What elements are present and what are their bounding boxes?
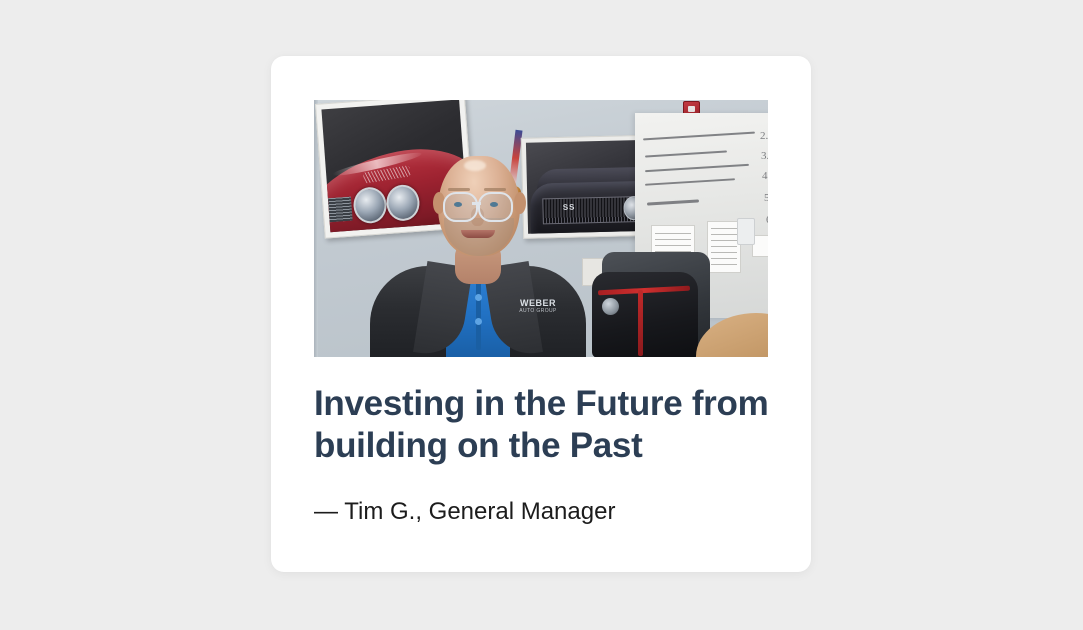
backpack-strap-vertical bbox=[638, 290, 643, 356]
head-highlight bbox=[464, 160, 486, 171]
person-figure: WEBER AUTO GROUP bbox=[368, 146, 588, 357]
testimonial-title: Investing in the Future from building on… bbox=[314, 383, 774, 467]
whiteboard-number: 5. bbox=[764, 193, 768, 204]
whiteboard-number: 6. bbox=[766, 215, 768, 226]
testimonial-photo: SS 2. 3. 4. 5. bbox=[314, 100, 768, 357]
glasses-bridge bbox=[472, 202, 481, 205]
page-root: SS 2. 3. 4. 5. bbox=[0, 0, 1083, 630]
glasses-lens-left bbox=[443, 192, 478, 222]
whiteboard-scribble bbox=[645, 150, 727, 157]
jacket-logo: WEBER AUTO GROUP bbox=[516, 298, 560, 316]
jacket-logo-subtext: AUTO GROUP bbox=[516, 308, 560, 315]
whiteboard-scribble bbox=[645, 164, 749, 172]
backpack-buckle bbox=[602, 298, 619, 315]
whiteboard-scribble bbox=[647, 199, 699, 205]
polo-placket bbox=[476, 274, 481, 350]
polo-button bbox=[475, 294, 482, 301]
glasses-lens-right bbox=[478, 192, 513, 222]
whiteboard-number: 4. bbox=[762, 171, 768, 182]
person-ear-right bbox=[514, 192, 526, 214]
backpack-strap-horizontal bbox=[598, 286, 690, 296]
whiteboard-paper bbox=[707, 221, 741, 273]
whiteboard-number: 2. bbox=[760, 131, 768, 142]
person-smile bbox=[461, 230, 495, 238]
polo-button bbox=[475, 318, 482, 325]
jacket-logo-text: WEBER bbox=[520, 298, 556, 308]
person-eyebrow-right bbox=[484, 188, 506, 191]
black-backpack bbox=[592, 272, 698, 357]
whiteboard-scribble bbox=[643, 132, 755, 141]
testimonial-attribution: — Tim G., General Manager bbox=[314, 497, 615, 527]
whiteboard-number: 3. bbox=[761, 151, 768, 162]
whiteboard-scribble bbox=[645, 178, 735, 185]
person-eyebrow-left bbox=[448, 188, 470, 191]
photo-scene: SS 2. 3. 4. 5. bbox=[314, 100, 768, 357]
wall-outlet bbox=[737, 218, 755, 245]
chevelle-grille bbox=[328, 196, 353, 222]
testimonial-card: SS 2. 3. 4. 5. bbox=[271, 56, 811, 572]
